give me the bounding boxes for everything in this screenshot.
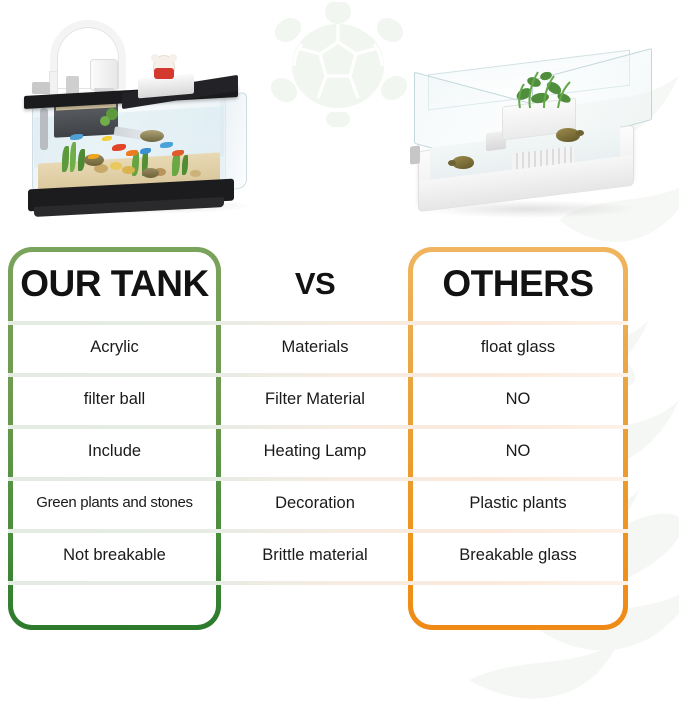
turtle-head	[576, 130, 584, 136]
bear-figurine-body	[154, 68, 174, 79]
comparison-table: OUR TANK VS OTHERS Acrylic Materials flo…	[0, 240, 679, 640]
turtle-head	[448, 160, 456, 166]
floating-plant	[100, 116, 110, 126]
lamp-clamp	[32, 82, 50, 94]
heating-lamp-icon	[91, 60, 117, 90]
cell-our-2: Include	[13, 425, 216, 477]
row-divider	[8, 581, 628, 585]
cell-feature-1: Filter Material	[231, 373, 399, 425]
turtle	[140, 130, 164, 142]
cell-our-1: filter ball	[13, 373, 216, 425]
planter-foliage-icon	[502, 64, 580, 110]
cell-feature-2: Heating Lamp	[231, 425, 399, 477]
cell-feature-0: Materials	[231, 321, 399, 373]
cell-feature-3: Decoration	[231, 477, 399, 529]
comparison-rows: Acrylic Materials float glass filter bal…	[0, 321, 679, 595]
comparison-header-row: OUR TANK VS OTHERS	[0, 247, 679, 321]
cell-others-1: NO	[413, 373, 623, 425]
decor-stone	[122, 166, 135, 174]
table-row: Not breakable Brittle material Breakable…	[0, 529, 679, 581]
comparison-infographic: OUR TANK VS OTHERS Acrylic Materials flo…	[0, 0, 679, 721]
terrarium-hinge	[410, 145, 420, 164]
header-vs: VS	[231, 247, 399, 321]
cell-others-0: float glass	[413, 321, 623, 373]
table-row: Acrylic Materials float glass	[0, 321, 679, 373]
cell-our-4: Not breakable	[13, 529, 216, 581]
product-photo-others-tank	[404, 50, 666, 225]
cell-others-2: NO	[413, 425, 623, 477]
table-row: filter ball Filter Material NO	[0, 373, 679, 425]
header-others: OTHERS	[408, 247, 628, 321]
cell-feature-4: Brittle material	[231, 529, 399, 581]
decor-stone	[110, 162, 122, 170]
decor-stone	[190, 170, 201, 177]
cell-our-0: Acrylic	[13, 321, 216, 373]
header-our-tank: OUR TANK	[8, 247, 221, 321]
table-row: Green plants and stones Decoration Plast…	[0, 477, 679, 529]
product-photo-our-tank	[14, 12, 274, 224]
turtle-watermark-icon	[258, 2, 418, 127]
cell-our-3: Green plants and stones	[13, 477, 216, 529]
table-row-end	[0, 581, 679, 595]
cell-others-3: Plastic plants	[413, 477, 623, 529]
table-row: Include Heating Lamp NO	[0, 425, 679, 477]
cell-others-4: Breakable glass	[413, 529, 623, 581]
turtle	[142, 168, 159, 178]
filter-intake-tube	[40, 108, 48, 150]
